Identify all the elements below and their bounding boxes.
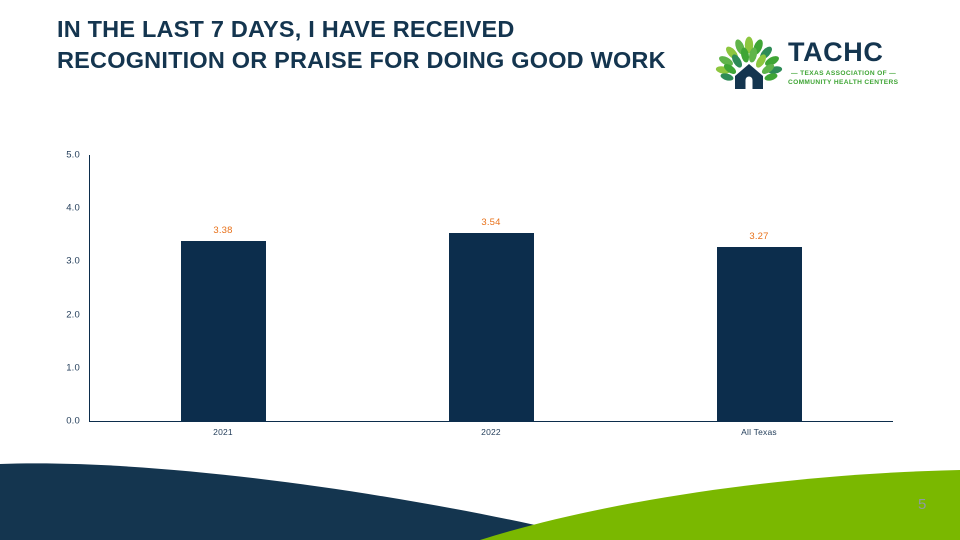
bar-value-label: 3.27 (749, 231, 768, 242)
y-axis-tick-label: 4.0 (40, 203, 80, 214)
slide-canvas: IN THE LAST 7 DAYS, I HAVE RECEIVED RECO… (0, 0, 960, 540)
bar-value-label: 3.38 (213, 225, 232, 236)
y-axis-tick-label: 2.0 (40, 309, 80, 320)
y-axis-tick-label: 3.0 (40, 256, 80, 267)
bar-chart: 0.01.02.03.04.05.0 3.383.543.27 20212022… (0, 0, 960, 460)
bar-2021: 3.38 (181, 241, 266, 421)
plot-area: 0.01.02.03.04.05.0 3.383.543.27 20212022… (89, 155, 893, 421)
page-number: 5 (918, 496, 927, 513)
bar-all-texas: 3.27 (717, 247, 802, 421)
footer-decoration (0, 440, 960, 540)
x-axis-tick-label: 2022 (481, 427, 501, 437)
y-axis-tick-label: 0.0 (40, 416, 80, 427)
x-axis-tick-label: All Texas (741, 427, 777, 437)
x-axis-tick-label: 2021 (213, 427, 233, 437)
y-axis-tick-label: 5.0 (40, 150, 80, 161)
green-wave-shape (480, 470, 960, 540)
bar-value-label: 3.54 (481, 217, 500, 228)
bar-2022: 3.54 (449, 233, 534, 421)
navy-wave-shape (0, 463, 600, 540)
x-axis-line (89, 421, 893, 422)
y-axis-tick-label: 1.0 (40, 362, 80, 373)
y-axis-line (89, 155, 90, 422)
